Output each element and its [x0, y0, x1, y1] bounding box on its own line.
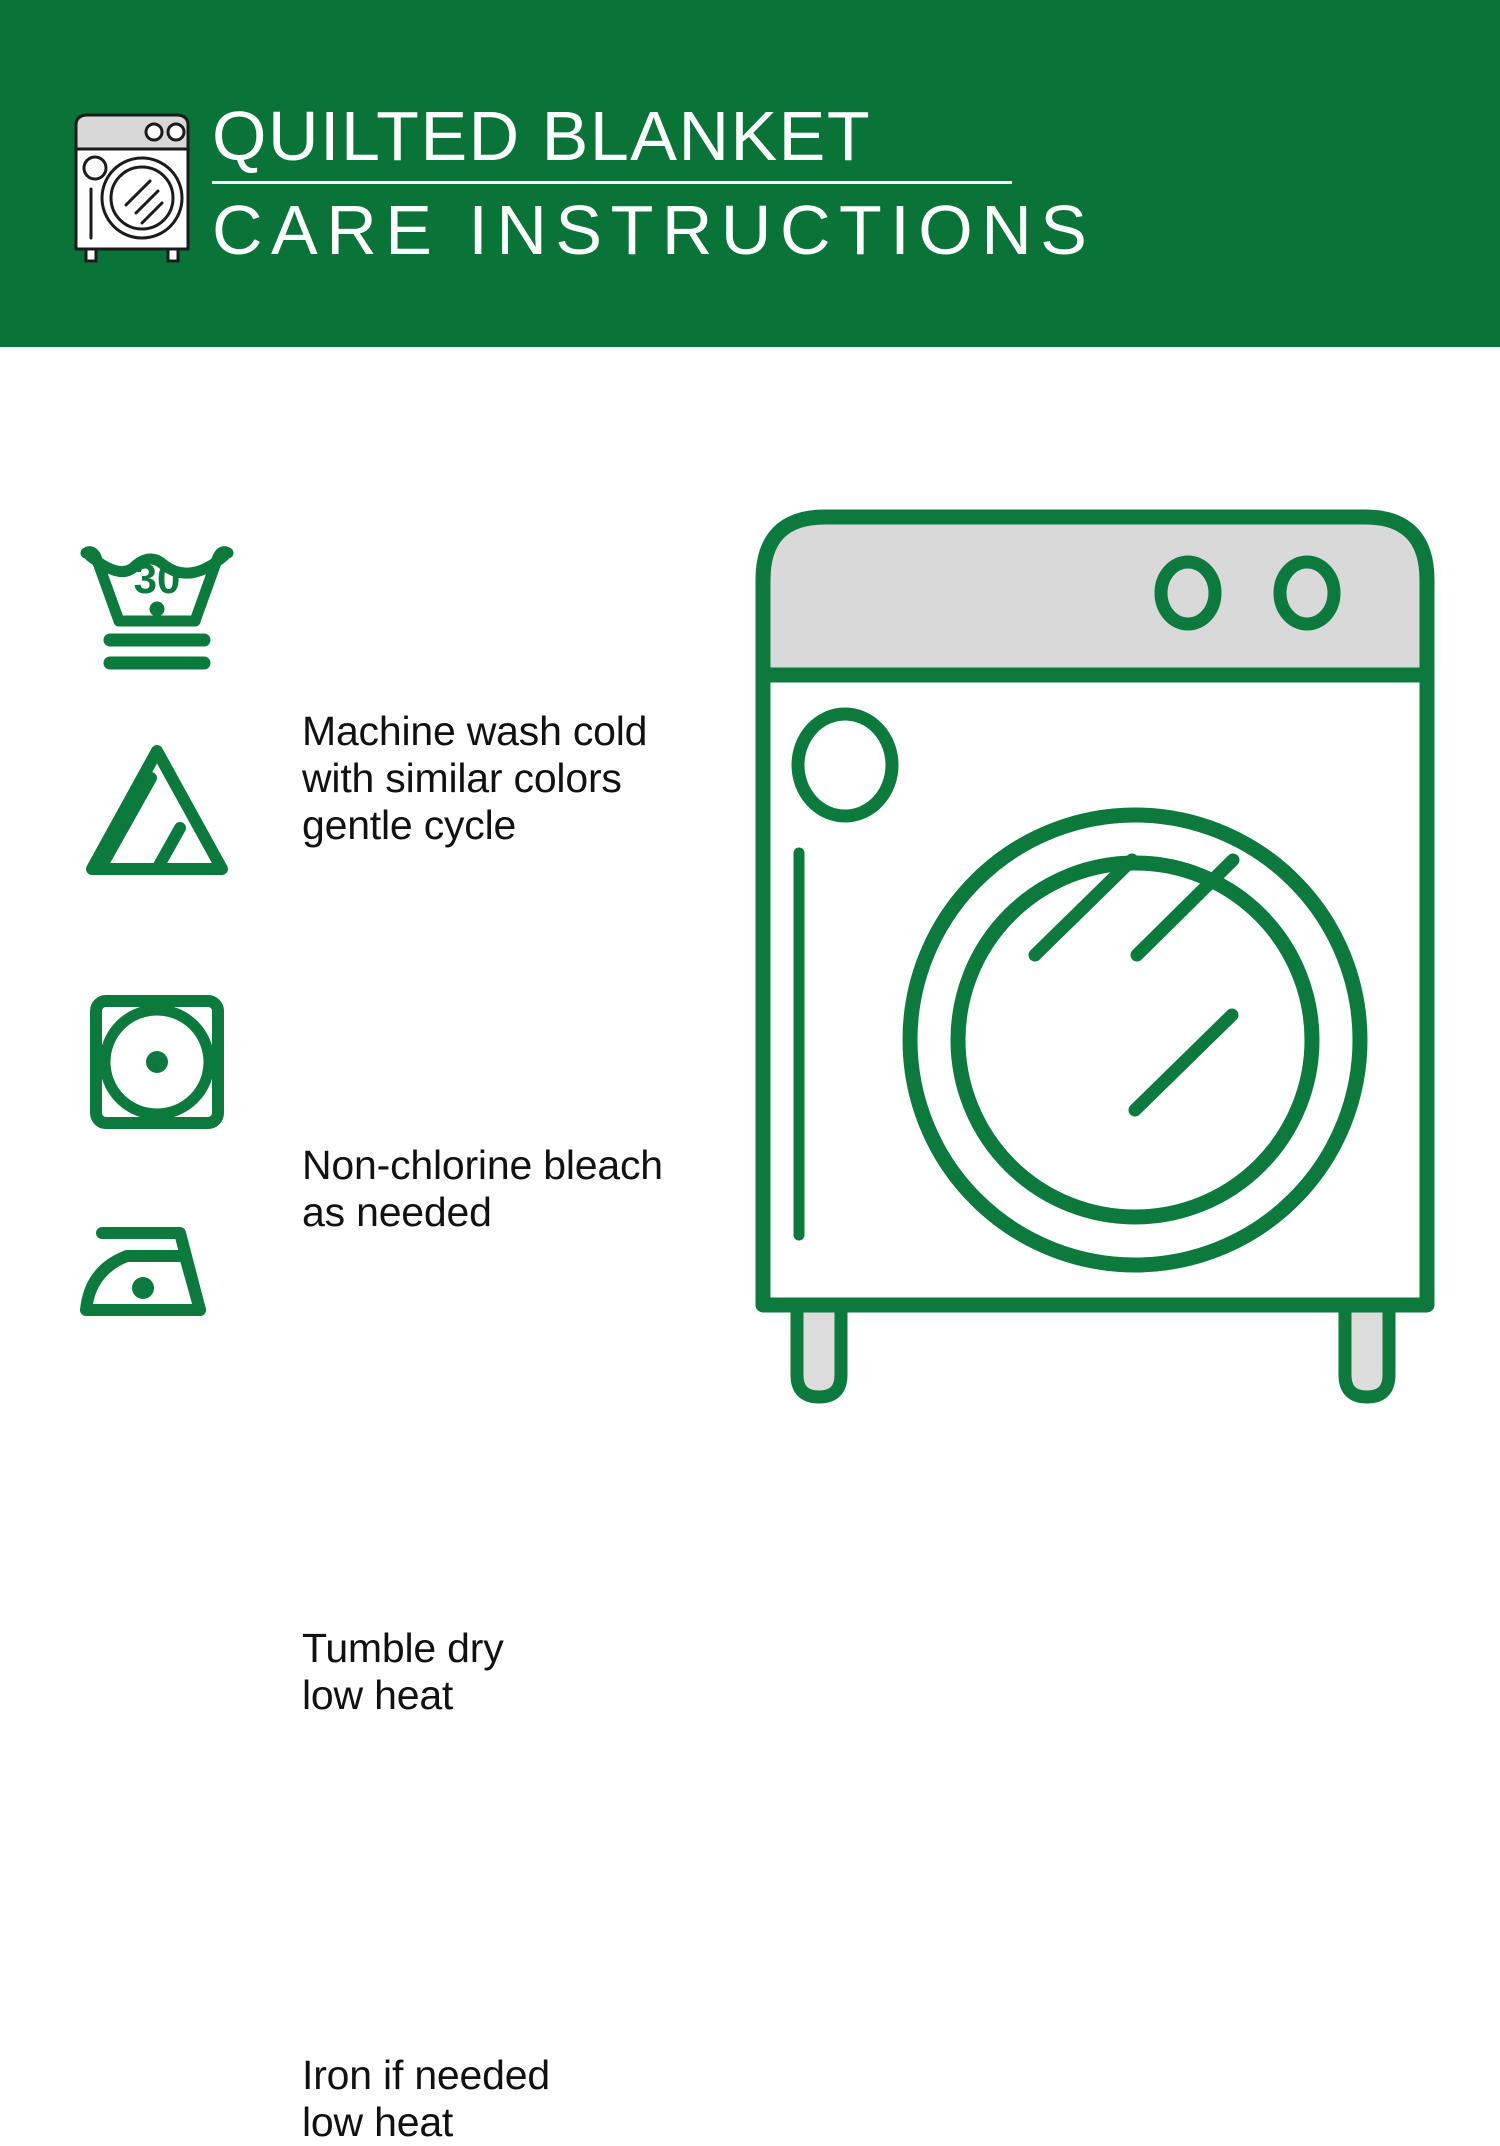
care-line: gentle cycle	[302, 802, 647, 849]
header-title-group: QUILTED BLANKET CARE INSTRUCTIONS	[212, 96, 1032, 269]
care-line: with similar colors	[302, 755, 647, 802]
care-text-tumble-dry: Tumble dry low heat	[302, 1625, 504, 1719]
wash-tub-30-gentle-icon: 30	[72, 523, 242, 693]
care-instruction-list: 30 Machine wash cold with similar colors…	[0, 347, 740, 1500]
iron-low-heat-icon	[72, 1190, 242, 1360]
tumble-dry-low-heat-icon	[72, 977, 242, 1147]
wash-temperature-value: 30	[134, 555, 181, 602]
care-text-iron: Iron if needed low heat	[302, 2052, 550, 2146]
care-text-bleach: Non-chlorine bleach as needed	[302, 1142, 663, 1236]
page-subtitle: CARE INSTRUCTIONS	[212, 191, 1032, 269]
care-line: as needed	[302, 1189, 663, 1236]
care-line: Iron if needed	[302, 2052, 550, 2099]
header-banner: QUILTED BLANKET CARE INSTRUCTIONS	[0, 0, 1500, 347]
page-title: QUILTED BLANKET	[212, 96, 1032, 176]
title-divider	[212, 181, 1012, 184]
non-chlorine-bleach-triangle-icon	[72, 729, 242, 899]
washing-machine-illustration	[745, 495, 1450, 1425]
care-line: low heat	[302, 2099, 550, 2146]
care-text-machine-wash: Machine wash cold with similar colors ge…	[302, 708, 647, 849]
care-line: Non-chlorine bleach	[302, 1142, 663, 1189]
washing-machine-logo-icon	[62, 105, 202, 265]
care-line: Tumble dry	[302, 1625, 504, 1672]
care-line: low heat	[302, 1672, 504, 1719]
care-instructions-infographic: QUILTED BLANKET CARE INSTRUCTIONS 30	[0, 0, 1500, 1500]
care-line: Machine wash cold	[302, 708, 647, 755]
